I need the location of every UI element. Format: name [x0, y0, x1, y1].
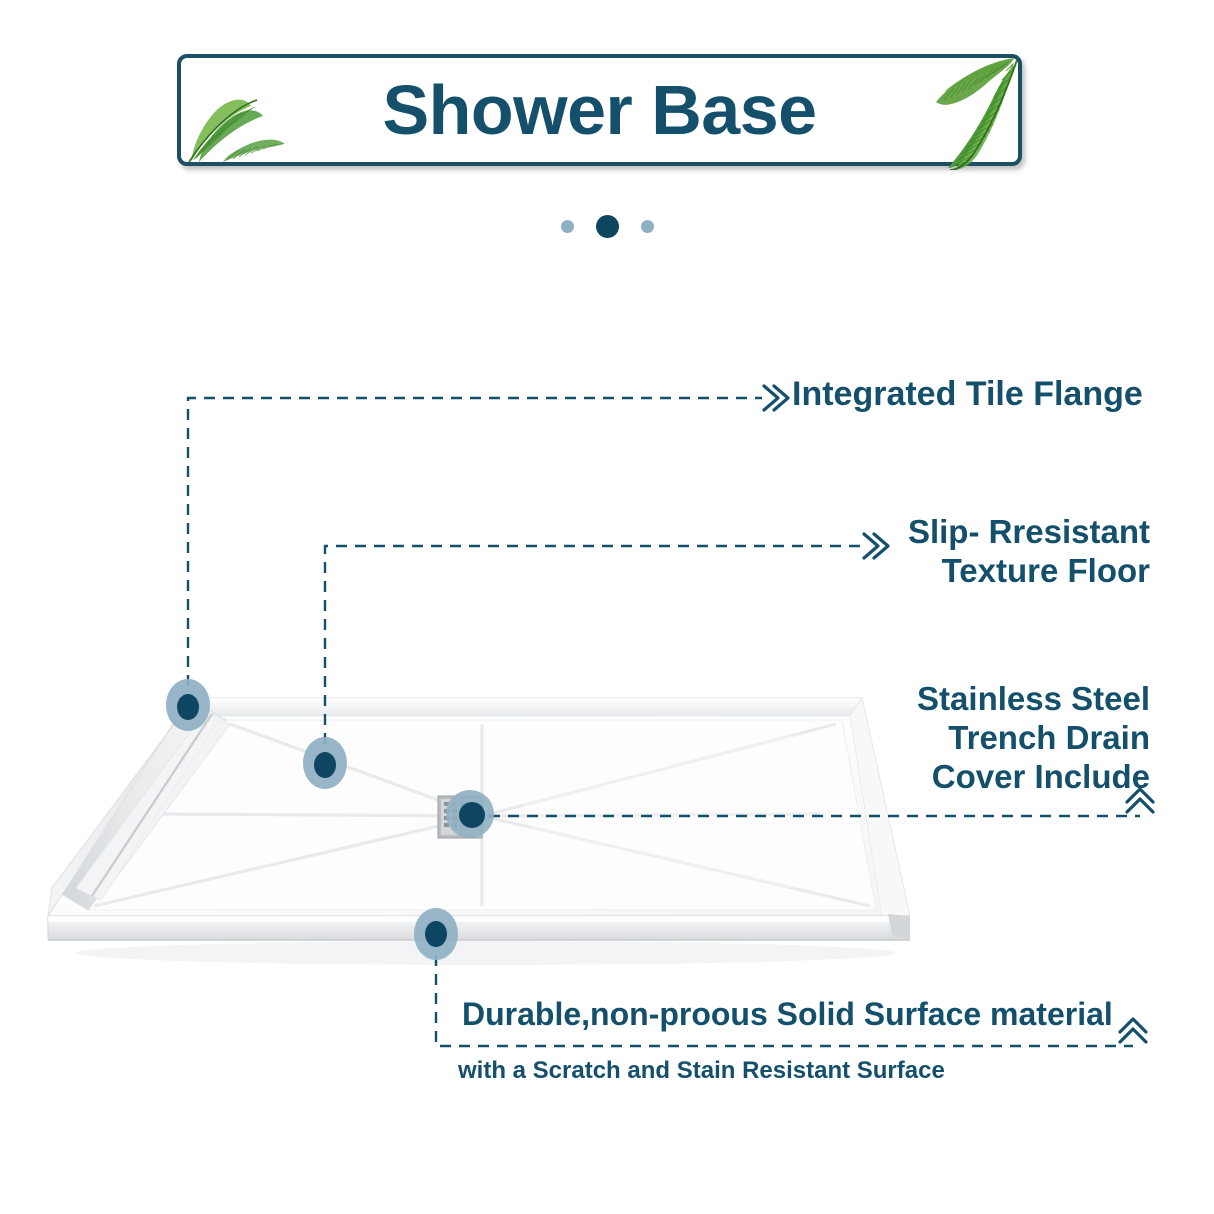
- page-title: Shower Base: [181, 58, 1018, 162]
- callout-label-durable-surface: Durable,non-proous Solid Surface materia…: [462, 996, 1113, 1034]
- carousel-dots[interactable]: [0, 212, 1214, 240]
- carousel-dot-2-active[interactable]: [596, 215, 619, 238]
- callout-sublabel-durable-surface: with a Scratch and Stain Resistant Surfa…: [458, 1057, 945, 1085]
- double-chevron-up-icon-2: [1120, 1019, 1146, 1042]
- stainless-steel-trench-drain-cover: [438, 796, 482, 838]
- double-chevron-right-icon-1: [764, 386, 788, 410]
- title-banner: Shower Base: [177, 54, 1022, 166]
- callout-label-integrated-tile-flange: Integrated Tile Flange: [792, 374, 1143, 414]
- callout-label-trench-drain: Stainless Steel Trench Drain Cover Inclu…: [900, 680, 1150, 797]
- carousel-dot-3[interactable]: [641, 220, 654, 233]
- shower-base-illustration: [30, 688, 910, 968]
- diagram-page: Shower Base: [0, 0, 1214, 1214]
- double-chevron-right-icon-2: [864, 534, 888, 558]
- connector-integrated-tile-flange: [188, 386, 788, 705]
- callout-label-slip-resistant: Slip- Rresistant Texture Floor: [900, 513, 1150, 591]
- carousel-dot-1[interactable]: [561, 220, 574, 233]
